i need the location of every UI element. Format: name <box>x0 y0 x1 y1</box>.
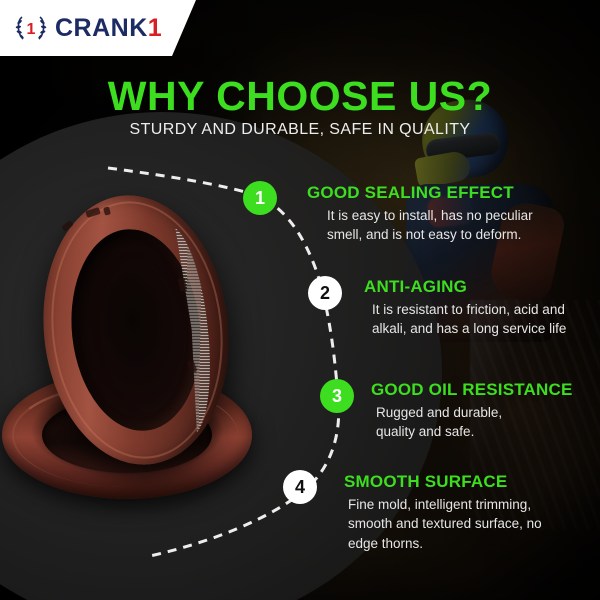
feature-item-1: GOOD SEALING EFFECT It is easy to instal… <box>307 183 600 245</box>
feature-description: Rugged and durable, quality and safe. <box>371 403 600 442</box>
laurel-wreath-number-one-icon: 1 <box>14 12 48 44</box>
feature-description: Fine mold, intelligent trimming, smooth … <box>344 495 600 554</box>
feature-item-3: GOOD OIL RESISTANCE Rugged and durable, … <box>371 380 600 442</box>
feature-line: It is easy to install, has no peculiar <box>327 206 600 226</box>
feature-badge-number: 4 <box>295 478 305 496</box>
feature-line: smooth and textured surface, no <box>348 514 600 534</box>
brand-name-primary: CRANK <box>55 14 148 42</box>
why-choose-us-poster: 1 CRANK1 WHY CHOOSE US? STURDY AND DURAB… <box>0 0 600 600</box>
feature-item-4: SMOOTH SURFACE Fine mold, intelligent tr… <box>344 472 600 553</box>
feature-line: edge thorns. <box>348 534 600 554</box>
brand-wordmark: CRANK1 <box>55 16 162 41</box>
feature-badge-2[interactable]: 2 <box>308 276 342 310</box>
feature-badge-3[interactable]: 3 <box>320 379 354 413</box>
feature-line: alkali, and has a long service life <box>372 319 600 339</box>
feature-heading: SMOOTH SURFACE <box>344 472 600 492</box>
product-image <box>0 185 265 540</box>
emblem-number: 1 <box>27 21 36 38</box>
feature-badge-number: 2 <box>320 284 330 302</box>
feature-badge-1[interactable]: 1 <box>243 181 277 215</box>
feature-line: Rugged and durable, <box>376 403 600 423</box>
feature-badge-4[interactable]: 4 <box>283 470 317 504</box>
page-title: WHY CHOOSE US? <box>0 76 600 117</box>
feature-badge-number: 1 <box>255 189 265 207</box>
feature-item-2: ANTI-AGING It is resistant to friction, … <box>364 277 600 339</box>
feature-line: quality and safe. <box>376 422 600 442</box>
feature-heading: GOOD SEALING EFFECT <box>307 183 600 203</box>
feature-heading: GOOD OIL RESISTANCE <box>371 380 600 400</box>
page-subtitle: STURDY AND DURABLE, SAFE IN QUALITY <box>0 120 600 139</box>
feature-badge-number: 3 <box>332 387 342 405</box>
feature-line: Fine mold, intelligent trimming, <box>348 495 600 515</box>
feature-line: It is resistant to friction, acid and <box>372 300 600 320</box>
brand-name-suffix: 1 <box>148 14 162 42</box>
feature-description: It is easy to install, has no peculiar s… <box>307 206 600 245</box>
feature-line: smell, and is not easy to deform. <box>327 225 600 245</box>
brand-logo-banner[interactable]: 1 CRANK1 <box>0 0 196 56</box>
feature-description: It is resistant to friction, acid and al… <box>364 300 600 339</box>
feature-heading: ANTI-AGING <box>364 277 600 297</box>
